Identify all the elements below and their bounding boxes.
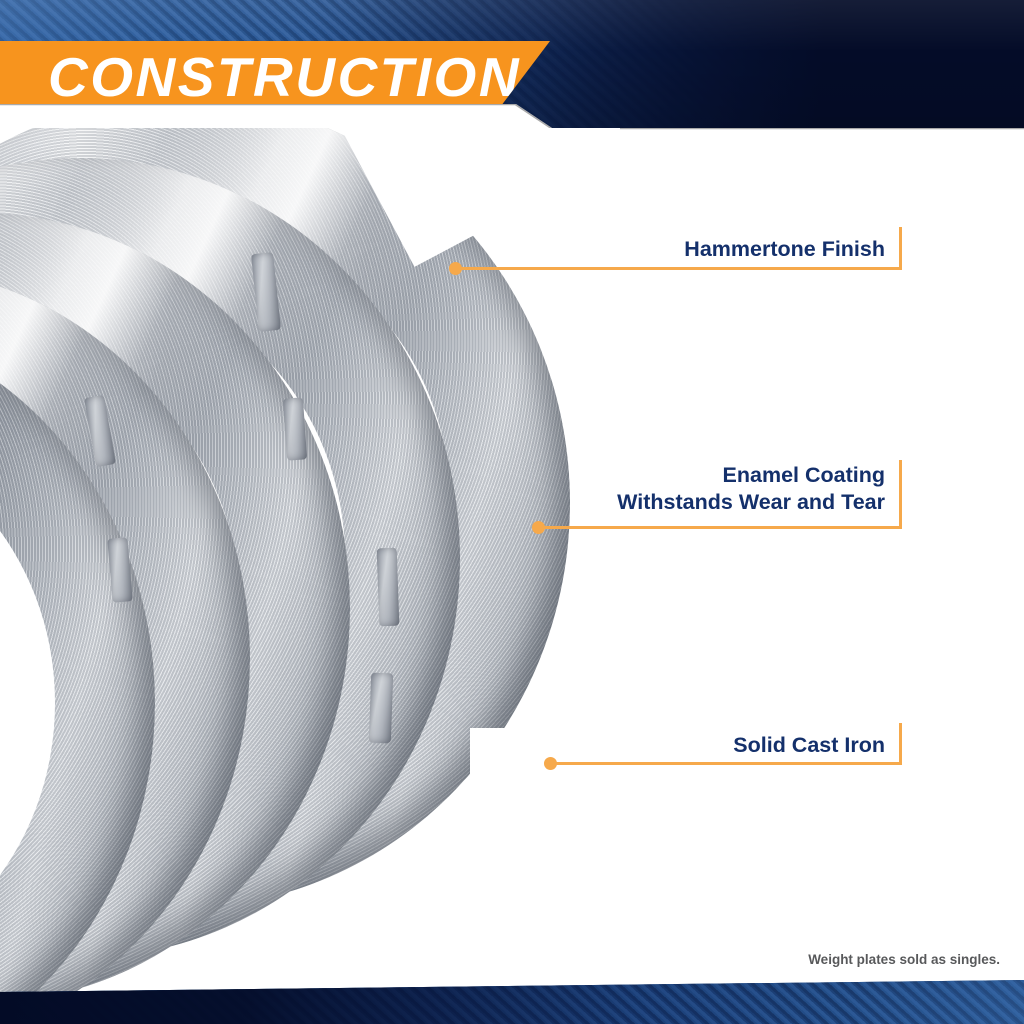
callout-bracket-2 bbox=[899, 460, 902, 529]
callout-bracket-1 bbox=[899, 227, 902, 270]
callout-leader-line-3 bbox=[550, 762, 902, 765]
infographic-canvas: CONSTRUCTION bbox=[0, 0, 1024, 1024]
callout-leader-line-2 bbox=[538, 526, 902, 529]
callout-leader-line-1 bbox=[455, 267, 902, 270]
footnote-text: Weight plates sold as singles. bbox=[808, 952, 1000, 967]
callout-label-1: Hammertone Finish bbox=[365, 236, 885, 263]
page-title: CONSTRUCTION bbox=[48, 50, 521, 105]
plate-rib-5 bbox=[377, 548, 400, 627]
callout-label-2: Enamel Coating Withstands Wear and Tear bbox=[325, 462, 885, 516]
photo-mask-right bbox=[470, 728, 620, 1000]
construction-banner: CONSTRUCTION bbox=[0, 41, 550, 113]
callout-label-3: Solid Cast Iron bbox=[365, 732, 885, 759]
callout-bracket-3 bbox=[899, 723, 902, 765]
plate-rib-2 bbox=[283, 397, 307, 460]
